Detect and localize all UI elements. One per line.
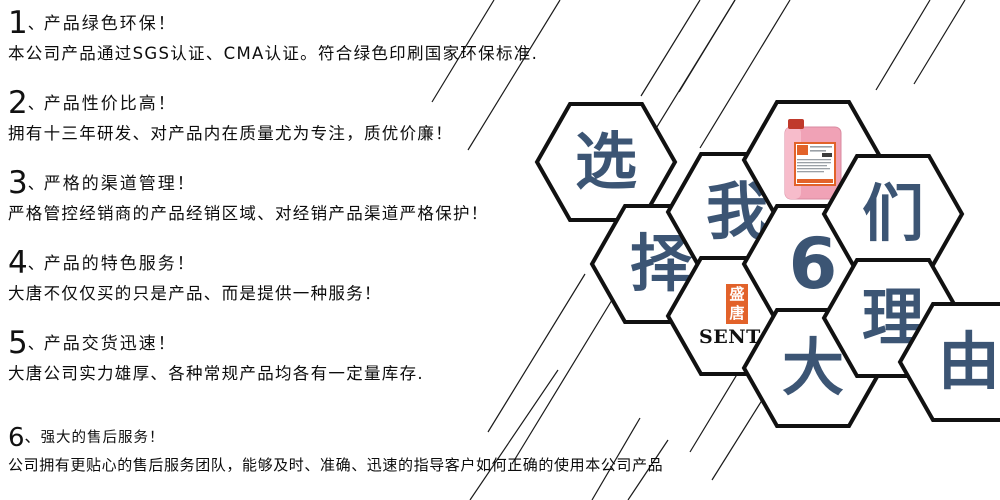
hex-label: 由 (896, 300, 1000, 424)
reason-headline: 1、产品绿色环保！ (8, 8, 538, 39)
reason-number: 1 (8, 5, 28, 41)
reason-detail: 拥有十三年研发、对产品内在质量尤为专注，质优价廉！ (8, 125, 453, 144)
reason-item-4: 4、产品的特色服务！ 大唐不仅仅买的只是产品、而是提供一种服务！ (8, 248, 382, 304)
reason-detail: 严格管控经销商的产品经销区域、对经销产品渠道严格保护！ (8, 205, 489, 224)
promo-banner: 1、产品绿色环保！ 本公司产品通过SGS认证、CMA认证。符合绿色印刷国家环保标… (0, 0, 1000, 500)
reason-headline: 6、强大的售后服务！ (8, 425, 663, 451)
reason-detail: 大唐公司实力雄厚、各种常规产品均各有一定量库存. (8, 365, 424, 384)
reason-separator: 、 (28, 94, 44, 113)
reason-item-3: 3、严格的渠道管理！ 严格管控经销商的产品经销区域、对经销产品渠道严格保护！ (8, 168, 489, 224)
reason-detail: 公司拥有更贴心的售后服务团队，能够及时、准确、迅速的指导客户如何正确的使用本公司… (8, 457, 663, 474)
reason-detail: 本公司产品通过SGS认证、CMA认证。符合绿色印刷国家环保标准. (8, 45, 538, 64)
reason-title: 产品性价比高！ (44, 94, 177, 114)
reason-separator: 、 (28, 174, 44, 193)
reason-title: 产品的特色服务！ (44, 254, 196, 274)
reason-separator: 、 (25, 427, 41, 446)
reason-number: 5 (8, 325, 28, 361)
reason-number: 2 (8, 85, 28, 121)
reason-separator: 、 (28, 334, 44, 353)
reason-number: 3 (8, 165, 28, 201)
reason-item-6: 6、强大的售后服务！ 公司拥有更贴心的售后服务团队，能够及时、准确、迅速的指导客… (8, 425, 663, 474)
reason-headline: 3、严格的渠道管理！ (8, 168, 489, 199)
reason-headline: 5、产品交货迅速！ (8, 328, 424, 359)
reason-number: 6 (8, 423, 25, 453)
reason-title: 强大的售后服务！ (41, 430, 165, 446)
reason-item-2: 2、产品性价比高！ 拥有十三年研发、对产品内在质量尤为专注，质优价廉！ (8, 88, 453, 144)
reason-title: 产品交货迅速！ (44, 334, 177, 354)
reason-item-1: 1、产品绿色环保！ 本公司产品通过SGS认证、CMA认证。符合绿色印刷国家环保标… (8, 8, 538, 64)
reason-headline: 4、产品的特色服务！ (8, 248, 382, 279)
reason-detail: 大唐不仅仅买的只是产品、而是提供一种服务！ (8, 285, 382, 304)
reason-item-5: 5、产品交货迅速！ 大唐公司实力雄厚、各种常规产品均各有一定量库存. (8, 328, 424, 384)
reason-title: 严格的渠道管理！ (44, 174, 196, 194)
hex-you[interactable]: 由 (896, 300, 1000, 424)
reason-number: 4 (8, 245, 28, 281)
reason-separator: 、 (28, 254, 44, 273)
reason-headline: 2、产品性价比高！ (8, 88, 453, 119)
reason-separator: 、 (28, 14, 44, 33)
reason-title: 产品绿色环保！ (44, 14, 177, 34)
